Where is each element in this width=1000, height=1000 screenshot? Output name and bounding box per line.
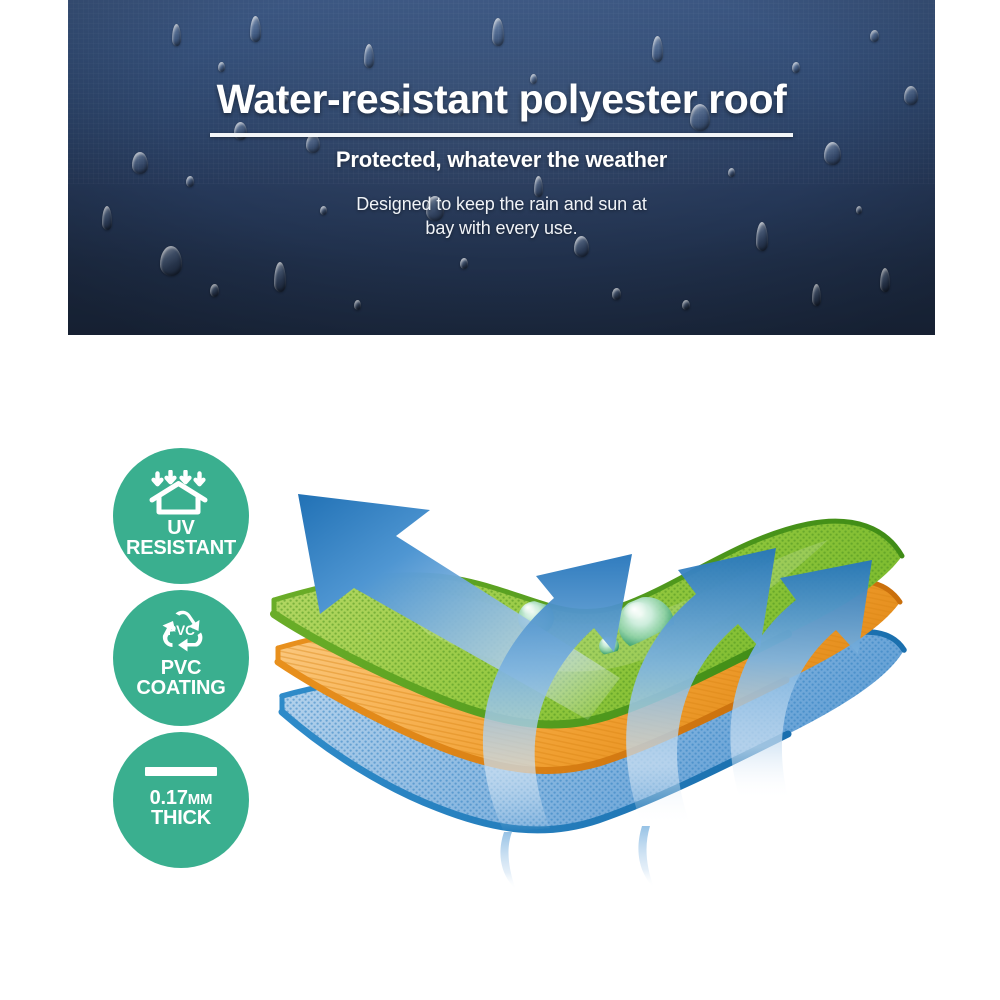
badge-pvc-line-2: COATING: [115, 678, 247, 698]
recycle-pvc-icon: PVC: [113, 608, 249, 654]
badge-uv-resistant: UV RESISTANT: [113, 448, 249, 584]
badge-thickness-label: 0.17MM THICK: [115, 788, 247, 829]
badge-uv-line-1: UV: [115, 518, 247, 538]
infographic-page: Water-resistant polyester roof Protected…: [0, 0, 1000, 1000]
badge-pvc-label: PVC COATING: [115, 658, 247, 699]
feature-badge-list: UV RESISTANT PVC: [113, 448, 253, 868]
badge-thickness-unit: MM: [188, 791, 213, 808]
thickness-bar-icon: [113, 760, 249, 782]
hero-banner: Water-resistant polyester roof Protected…: [68, 0, 935, 335]
badge-thickness-line-1: 0.17MM: [115, 788, 247, 808]
three-layer-fabric-illustration: [268, 428, 908, 898]
badge-pvc-coating: PVC PVC COATING: [113, 590, 249, 726]
badge-uv-line-2: RESISTANT: [115, 538, 247, 558]
droplet: [640, 545, 660, 564]
arrow-ribbon-tails: [500, 826, 654, 890]
house-with-uv-rays-icon: [113, 470, 249, 516]
recycle-icon-text: PVC: [167, 623, 195, 638]
hero-description: Designed to keep the rain and sun at bay…: [68, 192, 935, 241]
hero-description-line-2: bay with every use.: [425, 218, 577, 238]
badge-uv-label: UV RESISTANT: [115, 518, 247, 559]
hero-description-line-1: Designed to keep the rain and sun at: [356, 194, 647, 214]
badge-pvc-line-1: PVC: [115, 658, 247, 678]
badge-thickness-line-2: THICK: [115, 808, 247, 828]
badge-thickness-value: 0.17: [150, 787, 188, 809]
badge-thickness: 0.17MM THICK: [113, 732, 249, 868]
hero-subtitle: Protected, whatever the weather: [68, 147, 935, 173]
page-title: Water-resistant polyester roof: [68, 76, 935, 123]
title-divider: [210, 133, 793, 137]
